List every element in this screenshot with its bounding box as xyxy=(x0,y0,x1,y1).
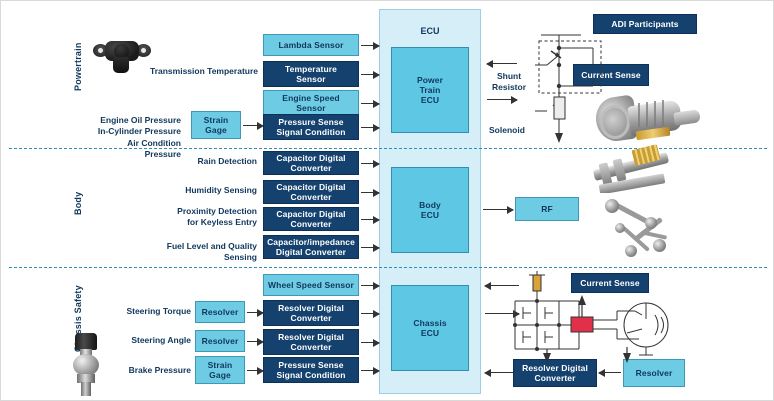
block-lambda-sensor[interactable]: Lambda Sensor xyxy=(263,34,359,56)
block-capacitor-digital-converter-rain[interactable]: Capacitor Digital Converter xyxy=(263,151,359,175)
arrow-wheel-speed-to-ecu xyxy=(361,285,379,286)
arrow-lambda-to-ecu xyxy=(361,45,379,46)
label-fuel-level-quality-sensing: Fuel Level and Quality Sensing xyxy=(141,241,257,264)
block-strain-gage-powertrain[interactable]: Strain Gage xyxy=(191,111,241,139)
label-steering-angle: Steering Angle xyxy=(119,335,191,346)
label-pressure-group: Engine Oil Pressure In-Cylinder Pressure… xyxy=(93,115,181,161)
block-resolver-steering-torque[interactable]: Resolver xyxy=(195,301,245,323)
block-resolver-chassis[interactable]: Resolver xyxy=(623,359,685,387)
arrow-ecu-to-solenoid xyxy=(487,99,517,100)
block-resolver-digital-converter-chassis[interactable]: Resolver Digital Converter xyxy=(513,359,597,387)
block-capacitor-digital-converter-humidity[interactable]: Capacitor Digital Converter xyxy=(263,180,359,204)
block-capacitor-impedance-digital-converter-fuel[interactable]: Capacitor/impedance Digital Converter xyxy=(263,235,359,259)
label-rain-detection: Rain Detection xyxy=(173,156,257,167)
ecu-chassis[interactable]: Chassis ECU xyxy=(391,285,469,371)
arrow-humidity-to-ecu xyxy=(361,192,379,193)
arrow-rdc-torque-to-ecu xyxy=(361,313,379,314)
arrow-pressure-sense-chassis-to-ecu xyxy=(361,370,379,371)
arrow-resolver-torque-to-rdc xyxy=(247,312,263,313)
arrow-pressure-sense-to-ecu xyxy=(361,127,379,128)
arrow-temperature-to-ecu xyxy=(361,74,379,75)
arrow-ecu-to-rf xyxy=(483,209,513,210)
arrow-rain-to-ecu xyxy=(361,163,379,164)
three-phase-h-bridge-motor-drive-schematic xyxy=(509,271,699,363)
block-engine-speed-sensor[interactable]: Engine Speed Sensor xyxy=(263,90,359,116)
block-pressure-sense-signal-condition-chassis[interactable]: Pressure Sense Signal Condition xyxy=(263,357,359,383)
label-proximity-detection: Proximity Detection for Keyless Entry xyxy=(173,206,257,229)
arrow-rdc-angle-to-ecu xyxy=(361,342,379,343)
label-transmission-temperature: Transmission Temperature xyxy=(141,66,267,77)
arrow-resolver-angle-to-rdc xyxy=(247,341,263,342)
arrow-fuel-to-ecu xyxy=(361,247,379,248)
block-resolver-steering-angle[interactable]: Resolver xyxy=(195,330,245,352)
block-resolver-digital-converter-torque[interactable]: Resolver Digital Converter xyxy=(263,300,359,326)
arrow-strain-gage-to-pressure-sense xyxy=(243,125,263,126)
legend-adi-participants[interactable]: ADI Participants xyxy=(593,14,697,34)
block-rf[interactable]: RF xyxy=(515,197,579,221)
block-strain-gage-brake[interactable]: Strain Gage xyxy=(195,356,245,384)
arrow-strain-gage-to-pressure-sense-chassis xyxy=(247,370,263,371)
ecu-powertrain[interactable]: Power Train ECU xyxy=(391,47,469,133)
label-steering-torque: Steering Torque xyxy=(119,306,191,317)
automatic-transmission-gearbox-photo xyxy=(596,89,708,149)
block-temperature-sensor[interactable]: Temperature Sensor xyxy=(263,61,359,87)
arrow-engine-speed-to-ecu xyxy=(361,103,379,104)
diagram-canvas: ECU Powertrain Body Chassis Safety Trans… xyxy=(0,0,774,401)
label-brake-pressure: Brake Pressure xyxy=(119,365,191,376)
block-capacitor-digital-converter-proximity[interactable]: Capacitor Digital Converter xyxy=(263,207,359,231)
ecu-body[interactable]: Body ECU xyxy=(391,167,469,253)
ecu-column-title: ECU xyxy=(379,26,481,36)
arrow-shunt-resistor-to-ecu xyxy=(487,63,517,64)
suspension-linkage-photo xyxy=(601,193,681,265)
block-wheel-speed-sensor[interactable]: Wheel Speed Sensor xyxy=(263,274,359,296)
arrow-rdc-chassis-to-ecu xyxy=(485,372,515,373)
block-resolver-digital-converter-angle[interactable]: Resolver Digital Converter xyxy=(263,329,359,355)
fuel-rail-injector-photo xyxy=(589,141,681,193)
arrow-proximity-to-ecu xyxy=(361,219,379,220)
section-separator-body-chassis xyxy=(9,267,767,268)
section-label-body: Body xyxy=(73,179,83,227)
pressure-sensor-photo xyxy=(63,331,111,399)
label-shunt-resistor: Shunt Resistor xyxy=(487,71,531,94)
section-label-powertrain: Powertrain xyxy=(73,23,83,111)
label-humidity-sensing: Humidity Sensing xyxy=(173,185,257,196)
arrow-resolver-to-rdc-chassis xyxy=(599,372,621,373)
block-pressure-sense-signal-condition-powertrain[interactable]: Pressure Sense Signal Condition xyxy=(263,114,359,140)
